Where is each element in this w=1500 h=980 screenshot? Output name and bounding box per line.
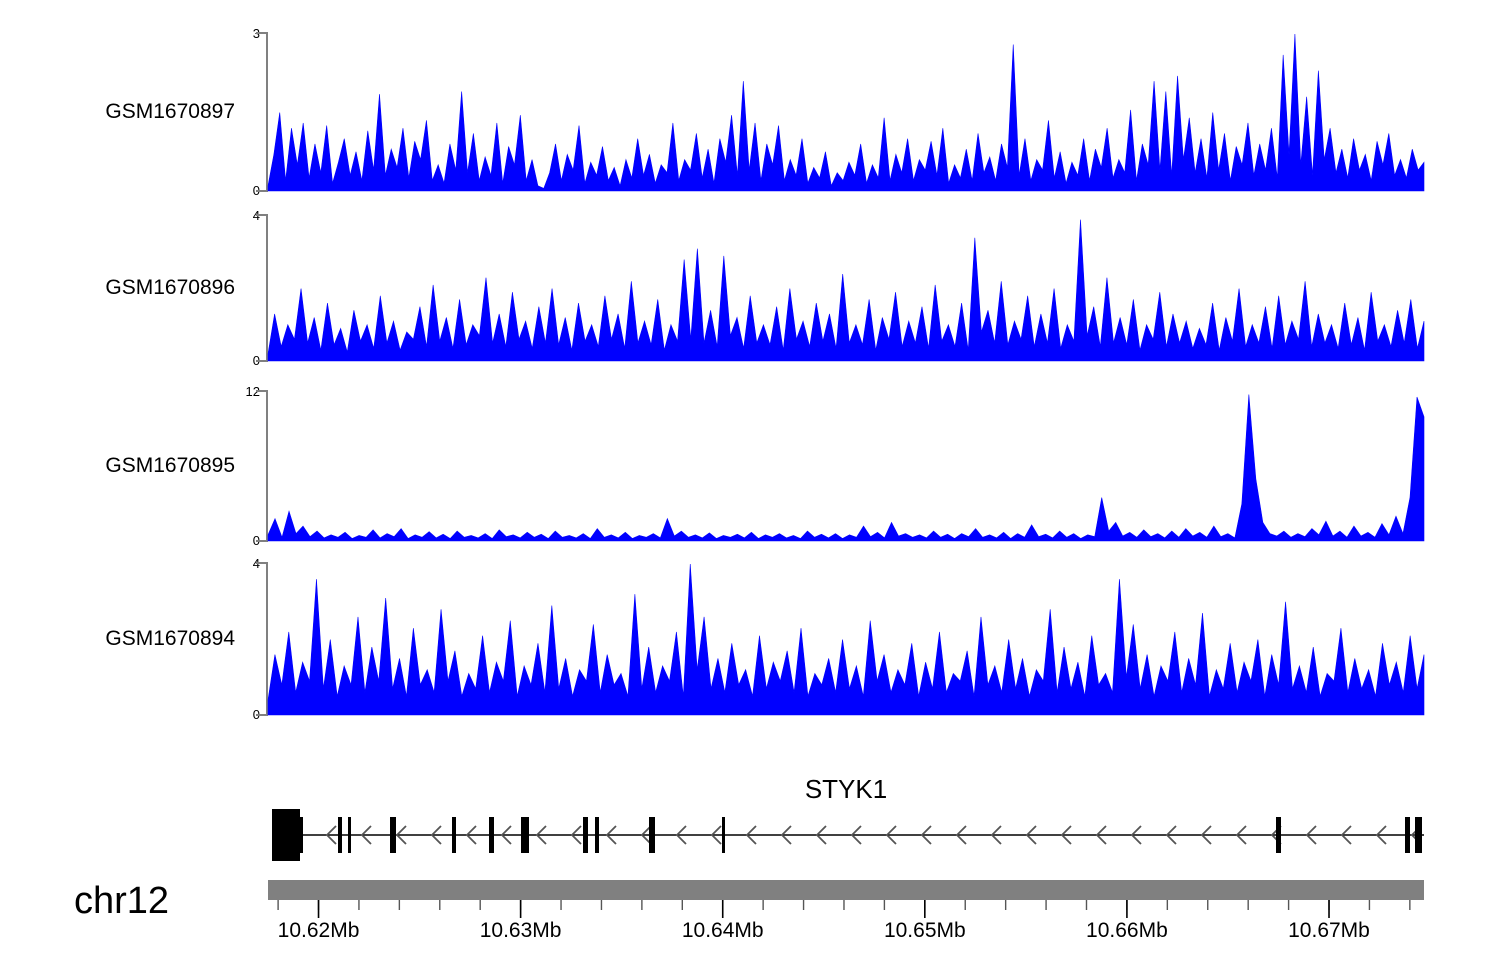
signal-track-gsm1670897: GSM167089730 — [0, 32, 1500, 192]
exon-block[interactable] — [338, 817, 342, 853]
axis-tick-label: 10.64Mb — [682, 920, 764, 941]
exon-block[interactable] — [583, 817, 588, 853]
y-axis-bracket — [256, 391, 267, 541]
exon-block[interactable] — [1415, 817, 1422, 853]
signal-plot-gsm1670897[interactable] — [0, 32, 1500, 192]
signal-track-gsm1670896: GSM167089640 — [0, 214, 1500, 362]
exon-block[interactable] — [297, 817, 303, 853]
axis-tick-label: 10.65Mb — [884, 920, 966, 941]
exon-block[interactable] — [348, 817, 351, 853]
exon-block[interactable] — [272, 809, 300, 861]
coverage-area — [268, 220, 1424, 361]
chromosome-ideogram-bar[interactable] — [268, 880, 1424, 900]
genomic-axis-panel: chr12 10.62Mb10.63Mb10.64Mb10.65Mb10.66M… — [0, 878, 1500, 973]
coverage-area — [268, 394, 1424, 541]
exon-block[interactable] — [452, 817, 456, 853]
exon-block[interactable] — [390, 817, 396, 853]
exon-block[interactable] — [722, 817, 725, 853]
y-axis-bracket — [256, 215, 267, 361]
coverage-area — [268, 564, 1424, 715]
exon-block[interactable] — [521, 817, 529, 853]
exon-block[interactable] — [489, 817, 494, 853]
signal-plot-gsm1670894[interactable] — [0, 562, 1500, 716]
axis-tick-label: 10.67Mb — [1288, 920, 1370, 941]
coverage-area — [268, 34, 1424, 191]
gene-model-svg[interactable] — [0, 770, 1500, 880]
axis-tick-label: 10.66Mb — [1086, 920, 1168, 941]
genome-browser-viewer: GSM167089730GSM167089640GSM1670895120GSM… — [0, 0, 1500, 980]
signal-plot-gsm1670896[interactable] — [0, 214, 1500, 362]
y-axis-bracket — [256, 563, 267, 715]
exon-block[interactable] — [649, 817, 655, 853]
exon-block[interactable] — [1276, 817, 1281, 853]
signal-track-gsm1670895: GSM1670895120 — [0, 390, 1500, 542]
exon-block[interactable] — [1405, 817, 1410, 853]
axis-tick-label: 10.63Mb — [480, 920, 562, 941]
signal-plot-gsm1670895[interactable] — [0, 390, 1500, 542]
signal-track-gsm1670894: GSM167089440 — [0, 562, 1500, 716]
exon-block[interactable] — [595, 817, 599, 853]
gene-model-panel: STYK1 — [0, 770, 1500, 880]
axis-tick-label: 10.62Mb — [278, 920, 360, 941]
y-axis-bracket — [256, 33, 267, 191]
